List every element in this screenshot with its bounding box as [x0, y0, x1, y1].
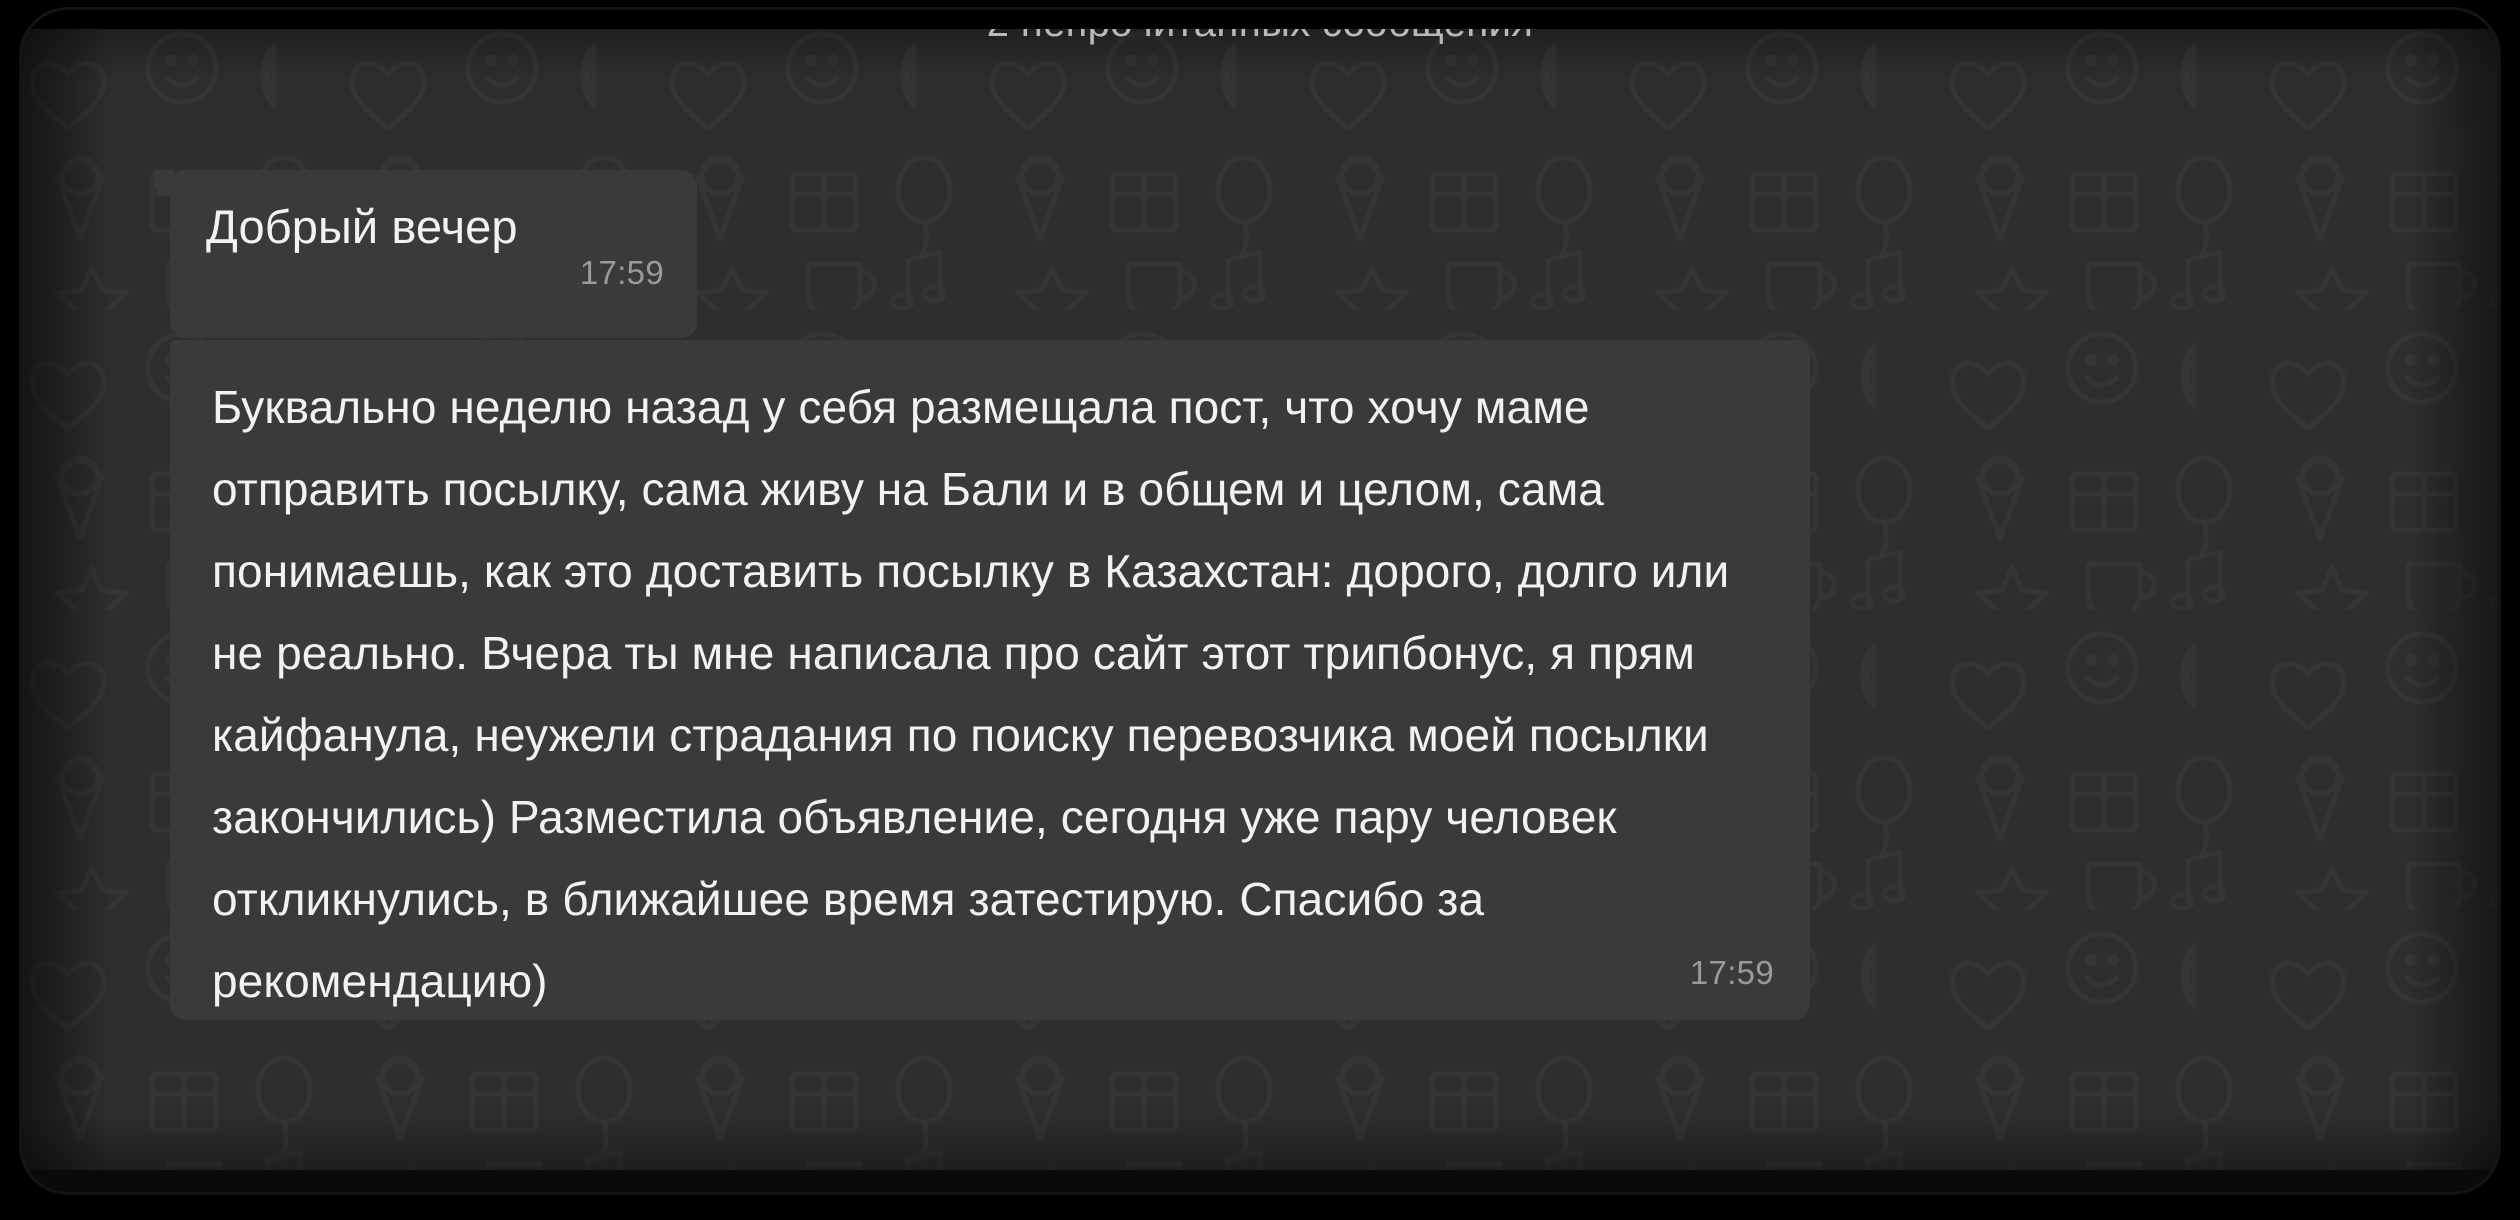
message-timestamp: 17:59 — [1690, 954, 1774, 992]
message-timestamp: 17:59 — [580, 254, 664, 292]
message-bubble-long[interactable]: Буквально неделю назад у себя размещала … — [170, 340, 1810, 1020]
device-frame: 2 непрочитанных сообщения Добрый вечер 1… — [22, 10, 2498, 1192]
message-text: Буквально неделю назад у себя размещала … — [212, 366, 1770, 1022]
message-bubble-greeting[interactable]: Добрый вечер 17:59 — [170, 170, 697, 338]
message-list: Добрый вечер 17:59 Буквально неделю наза… — [22, 10, 2498, 1192]
bottom-bezel — [22, 1170, 2498, 1192]
top-bezel — [22, 10, 2498, 29]
screenshot-root: 2 непрочитанных сообщения Добрый вечер 1… — [0, 0, 2520, 1220]
message-text: Добрый вечер — [206, 198, 663, 256]
bubble-tail-icon — [154, 170, 174, 196]
